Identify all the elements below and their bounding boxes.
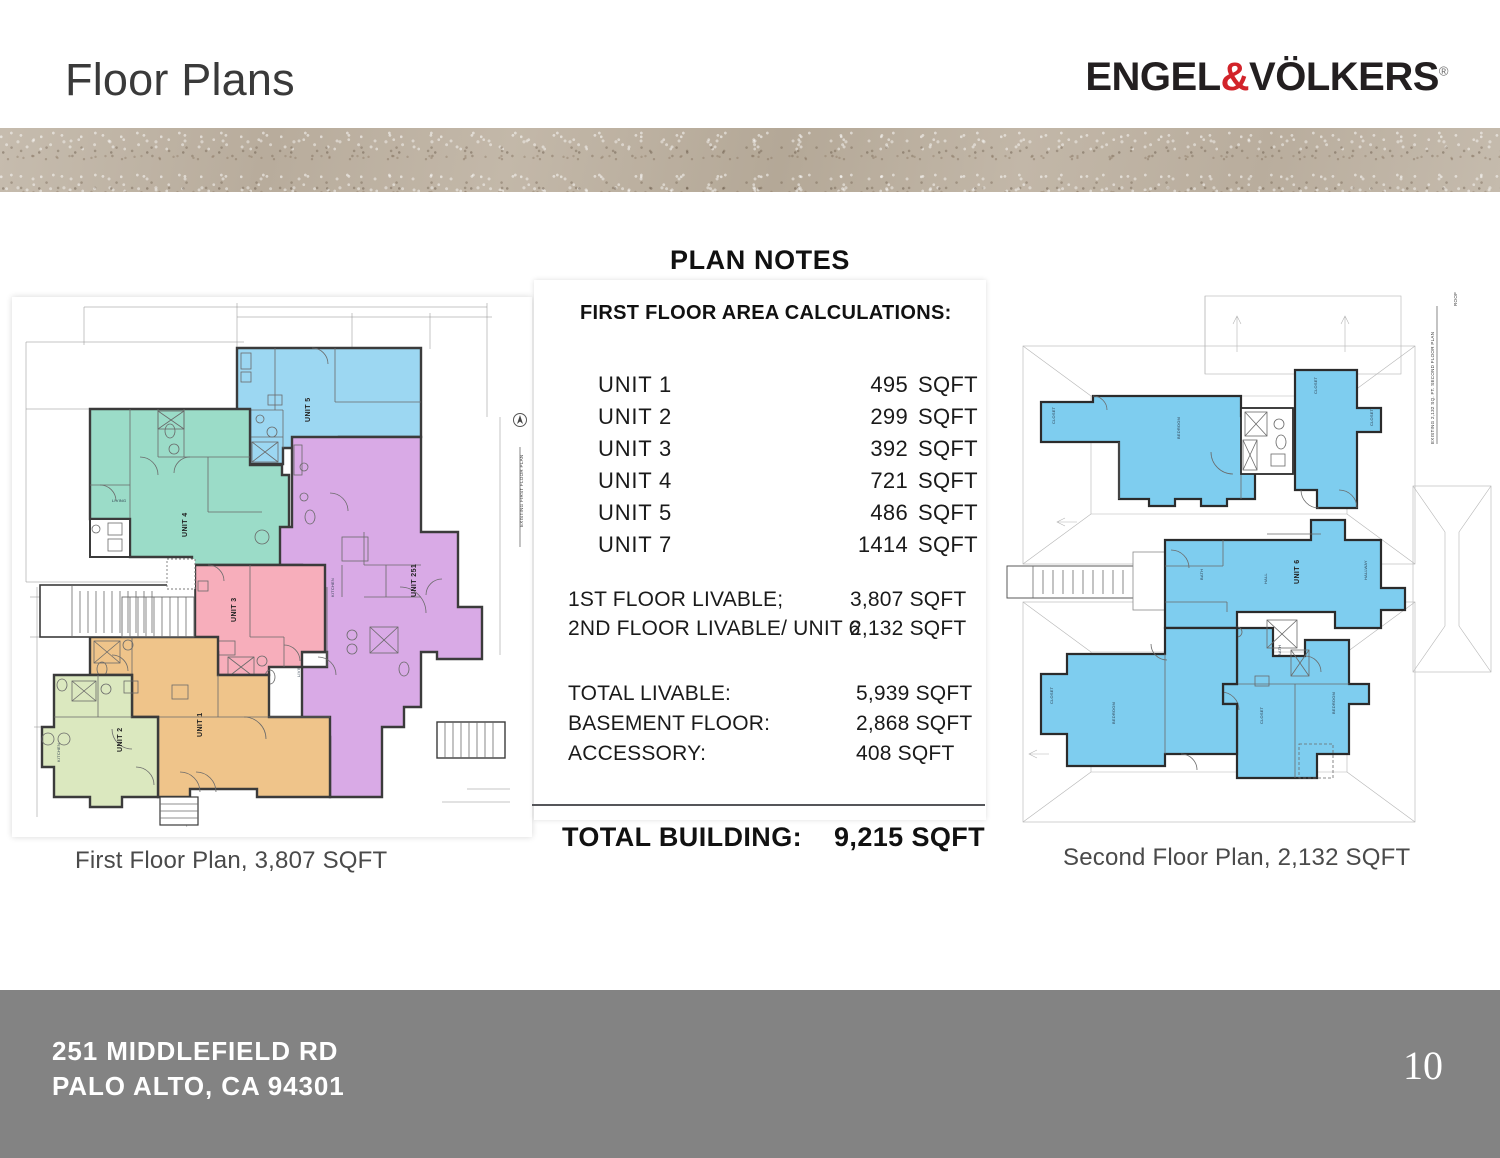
engel-volkers-logo: ENGEL&VÖLKERS®: [1085, 55, 1448, 100]
summary-row: TOTAL LIVABLE: 5,939 SQFT: [568, 682, 988, 712]
floor-livable-list: 1ST FLOOR LIVABLE; 3,807 SQFT 2ND FLOOR …: [568, 588, 988, 646]
exterior-stairs-right: [437, 722, 505, 758]
property-address: 251 MIDDLEFIELD RD PALO ALTO, CA 94301: [52, 1034, 345, 1103]
svg-text:UNIT 6: UNIT 6: [1294, 559, 1301, 584]
svg-text:HALL: HALL: [1263, 573, 1268, 584]
unit-value: 721: [846, 468, 908, 494]
address-line-2: PALO ALTO, CA 94301: [52, 1069, 345, 1104]
svg-text:UNIT 251: UNIT 251: [411, 564, 418, 597]
unit-uom: SQFT: [918, 404, 978, 430]
brand-ampersand: &: [1221, 55, 1249, 99]
unit-value: 495: [846, 372, 908, 398]
row-value: 2,868 SQFT: [856, 712, 972, 736]
unit-area-row: UNIT 3 392 SQFT: [598, 436, 978, 468]
total-label: TOTAL BUILDING:: [562, 822, 802, 853]
svg-text:CLOSET: CLOSET: [1049, 686, 1054, 704]
unit-uom: SQFT: [918, 532, 978, 558]
floor-livable-row: 1ST FLOOR LIVABLE; 3,807 SQFT: [568, 588, 988, 617]
summary-row: ACCESSORY: 408 SQFT: [568, 742, 988, 772]
page-title: Floor Plans: [65, 57, 295, 102]
unit-label: UNIT 3: [598, 436, 672, 462]
row-value: 2,132 SQFT: [850, 617, 966, 641]
unit-uom: SQFT: [918, 468, 978, 494]
svg-text:HALLWAY: HALLWAY: [1363, 560, 1368, 580]
row-value: 5,939 SQFT: [856, 682, 972, 706]
unit-uom: SQFT: [918, 436, 978, 462]
second-floor-plan-image: BEDROOM CLOSET: [1005, 284, 1495, 832]
row-label: 2ND FLOOR LIVABLE/ UNIT 6: [568, 617, 860, 641]
unit-area-list: UNIT 1 495 SQFT UNIT 2 299 SQFT UNIT 3 3…: [598, 372, 978, 564]
svg-text:EXISTING 2,132 SQ. FT. SECOND: EXISTING 2,132 SQ. FT. SECOND FLOOR PLAN: [1430, 332, 1435, 444]
svg-text:BEDROOM: BEDROOM: [1111, 702, 1116, 724]
second-floor-caption: Second Floor Plan, 2,132 SQFT: [1063, 844, 1410, 872]
svg-text:BEDROOM: BEDROOM: [1176, 417, 1181, 439]
slide-content: EXISTING FIRST FLOOR PLAN UNIT: [0, 192, 1500, 986]
unit-uom: SQFT: [918, 500, 978, 526]
unit-label: UNIT 5: [598, 500, 672, 526]
first-floor-caption: First Floor Plan, 3,807 SQFT: [75, 847, 387, 875]
unit-uom: SQFT: [918, 372, 978, 398]
registered-mark-icon: ®: [1439, 64, 1448, 79]
unit-area-row: UNIT 5 486 SQFT: [598, 500, 978, 532]
front-stoop: [160, 797, 198, 825]
svg-text:BATH: BATH: [1199, 569, 1204, 580]
row-label: 1ST FLOOR LIVABLE;: [568, 588, 783, 612]
first-floor-plan-svg: EXISTING FIRST FLOOR PLAN UNIT: [12, 297, 532, 837]
svg-text:UNIT 5: UNIT 5: [305, 397, 312, 422]
page-header: Floor Plans ENGEL&VÖLKERS®: [0, 0, 1500, 128]
svg-text:ROOF: ROOF: [1453, 292, 1458, 306]
svg-text:KITCHEN: KITCHEN: [56, 743, 61, 762]
first-floor-plan-image: EXISTING FIRST FLOOR PLAN UNIT: [12, 297, 532, 837]
svg-text:UNIT 2: UNIT 2: [117, 727, 124, 752]
address-line-1: 251 MIDDLEFIELD RD: [52, 1034, 345, 1069]
svg-text:CLOSET: CLOSET: [1313, 376, 1318, 394]
unit-area-row: UNIT 1 495 SQFT: [598, 372, 978, 404]
total-value: 9,215 SQFT: [834, 822, 985, 853]
unit-value: 486: [846, 500, 908, 526]
brand-part1: ENGEL: [1085, 55, 1220, 99]
svg-text:UNIT 4: UNIT 4: [182, 512, 189, 537]
svg-text:CLOSET: CLOSET: [1259, 706, 1264, 724]
second-floor-plan-svg: BEDROOM CLOSET: [1005, 284, 1495, 832]
page-footer: 251 MIDDLEFIELD RD PALO ALTO, CA 94301 1…: [0, 990, 1500, 1158]
unit-label: UNIT 2: [598, 404, 672, 430]
plan-notes-title: PLAN NOTES: [534, 245, 986, 276]
svg-text:KITCHEN: KITCHEN: [330, 578, 335, 597]
unit-label: UNIT 1: [598, 372, 672, 398]
svg-text:LIVING: LIVING: [112, 498, 126, 503]
svg-text:BEDROOM: BEDROOM: [1331, 692, 1336, 714]
unit-value: 299: [846, 404, 908, 430]
row-label: TOTAL LIVABLE:: [568, 682, 731, 706]
svg-text:CLOSET: CLOSET: [1369, 408, 1374, 426]
summary-list: TOTAL LIVABLE: 5,939 SQFT BASEMENT FLOOR…: [568, 682, 988, 772]
unit-area-row: UNIT 4 721 SQFT: [598, 468, 978, 500]
svg-text:EXISTING FIRST FLOOR PLAN: EXISTING FIRST FLOOR PLAN: [519, 455, 524, 527]
unit-area-row: UNIT 7 1414 SQFT: [598, 532, 978, 564]
unit-label: UNIT 4: [598, 468, 672, 494]
unit-label: UNIT 7: [598, 532, 672, 558]
floor-livable-row: 2ND FLOOR LIVABLE/ UNIT 6 2,132 SQFT: [568, 617, 988, 646]
svg-text:CLOSET: CLOSET: [1051, 406, 1056, 424]
row-label: ACCESSORY:: [568, 742, 706, 766]
brand-part2: VÖLKERS: [1249, 55, 1439, 99]
stucco-texture-band: [0, 128, 1500, 192]
svg-text:UNIT 3: UNIT 3: [231, 597, 238, 622]
page-number: 10: [1403, 1042, 1443, 1089]
row-value: 408 SQFT: [856, 742, 954, 766]
summary-row: BASEMENT FLOOR: 2,868 SQFT: [568, 712, 988, 742]
svg-text:BATH: BATH: [1277, 645, 1282, 656]
row-label: BASEMENT FLOOR:: [568, 712, 770, 736]
unit-value: 392: [846, 436, 908, 462]
plan-notes-subtitle: FIRST FLOOR AREA CALCULATIONS:: [580, 302, 952, 325]
row-value: 3,807 SQFT: [850, 588, 966, 612]
unit-area-row: UNIT 2 299 SQFT: [598, 404, 978, 436]
total-divider: [532, 804, 985, 806]
svg-text:UNIT 1: UNIT 1: [197, 712, 204, 737]
total-building-row: TOTAL BUILDING: 9,215 SQFT: [562, 822, 992, 862]
unit-value: 1414: [846, 532, 908, 558]
